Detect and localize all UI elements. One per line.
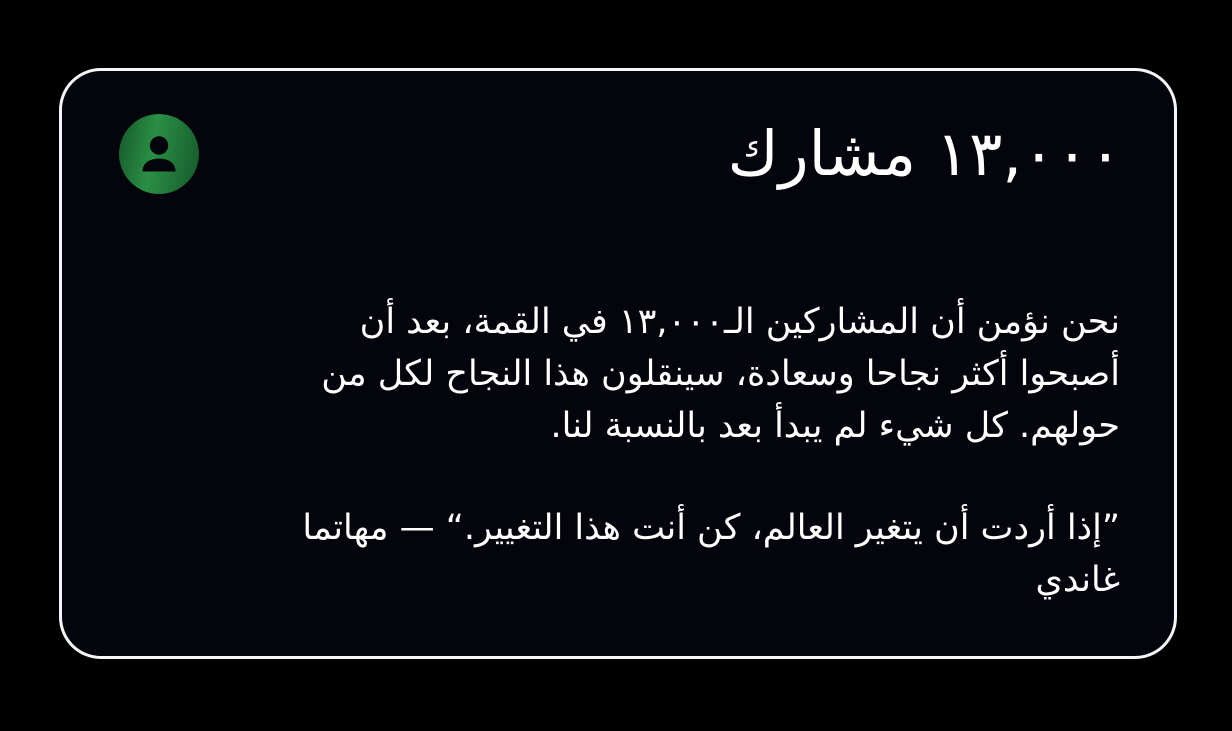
paragraph-gandhi-quote: ”إذا أردت أن يتغير العالم، كن أنت هذا ال… xyxy=(116,502,1120,606)
quote-line: ”إذا أردت أن يتغير العالم، كن أنت هذا ال… xyxy=(116,502,1120,554)
quote-attribution-line: غاندي xyxy=(116,554,1120,606)
participants-card: ١٣,٠٠٠ مشارك person-icon نحن نؤمن أن الم… xyxy=(59,68,1177,659)
card-body: نحن نؤمن أن المشاركين الـ١٣,٠٠٠ في القمة… xyxy=(62,296,1174,606)
person-icon xyxy=(136,131,182,177)
screen: ١٣,٠٠٠ مشارك person-icon نحن نؤمن أن الم… xyxy=(0,0,1232,731)
page-title: ١٣,٠٠٠ مشارك xyxy=(728,118,1122,189)
paragraph-line: أصبحوا أكثر نجاحا وسعادة، سينقلون هذا ال… xyxy=(116,348,1120,400)
paragraph-line: حولهم. كل شيء لم يبدأ بعد بالنسبة لنا. xyxy=(116,400,1120,452)
paragraph-line: نحن نؤمن أن المشاركين الـ١٣,٠٠٠ في القمة… xyxy=(116,296,1120,348)
avatar: person-icon xyxy=(119,114,199,194)
paragraph-belief-statement: نحن نؤمن أن المشاركين الـ١٣,٠٠٠ في القمة… xyxy=(116,296,1120,452)
card-header: ١٣,٠٠٠ مشارك person-icon xyxy=(62,71,1174,236)
